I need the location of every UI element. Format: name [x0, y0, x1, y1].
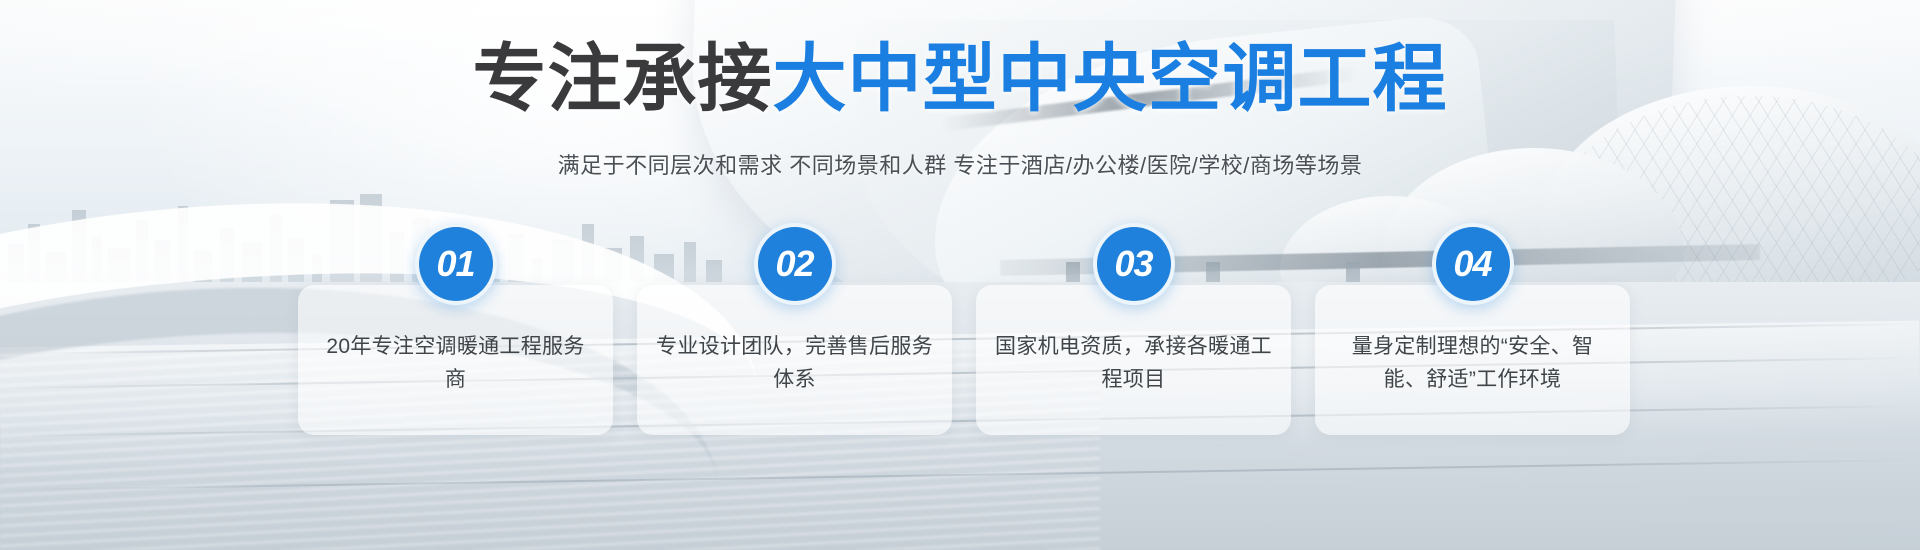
page-title: 专注承接大中型中央空调工程	[0, 42, 1920, 116]
page-subtitle: 满足于不同层次和需求 不同场景和人群 专注于酒店/办公楼/医院/学校/商场等场景	[0, 152, 1920, 181]
card-number-badge: 01	[415, 223, 497, 305]
headline-dark-text: 专注承接	[473, 37, 773, 120]
card-description: 国家机电资质，承接各暖通工程项目	[994, 331, 1273, 396]
feature-card[interactable]: 04 量身定制理想的“安全、智能、舒适”工作环境	[1315, 285, 1630, 435]
feature-card-list: 01 20年专注空调暖通工程服务商 02 专业设计团队，完善售后服务体系 03 …	[298, 285, 1630, 435]
card-description: 专业设计团队，完善售后服务体系	[655, 331, 934, 396]
card-description: 量身定制理想的“安全、智能、舒适”工作环境	[1333, 331, 1612, 396]
feature-card[interactable]: 03 国家机电资质，承接各暖通工程项目	[976, 285, 1291, 435]
hero-banner: 专注承接大中型中央空调工程 满足于不同层次和需求 不同场景和人群 专注于酒店/办…	[0, 0, 1920, 550]
card-description: 20年专注空调暖通工程服务商	[316, 331, 595, 396]
card-number-badge: 03	[1093, 223, 1175, 305]
feature-card[interactable]: 02 专业设计团队，完善售后服务体系	[637, 285, 952, 435]
feature-card[interactable]: 01 20年专注空调暖通工程服务商	[298, 285, 613, 435]
card-number-badge: 04	[1432, 223, 1514, 305]
card-number-badge: 02	[754, 223, 836, 305]
headline-blue-text: 大中型中央空调工程	[773, 37, 1448, 120]
